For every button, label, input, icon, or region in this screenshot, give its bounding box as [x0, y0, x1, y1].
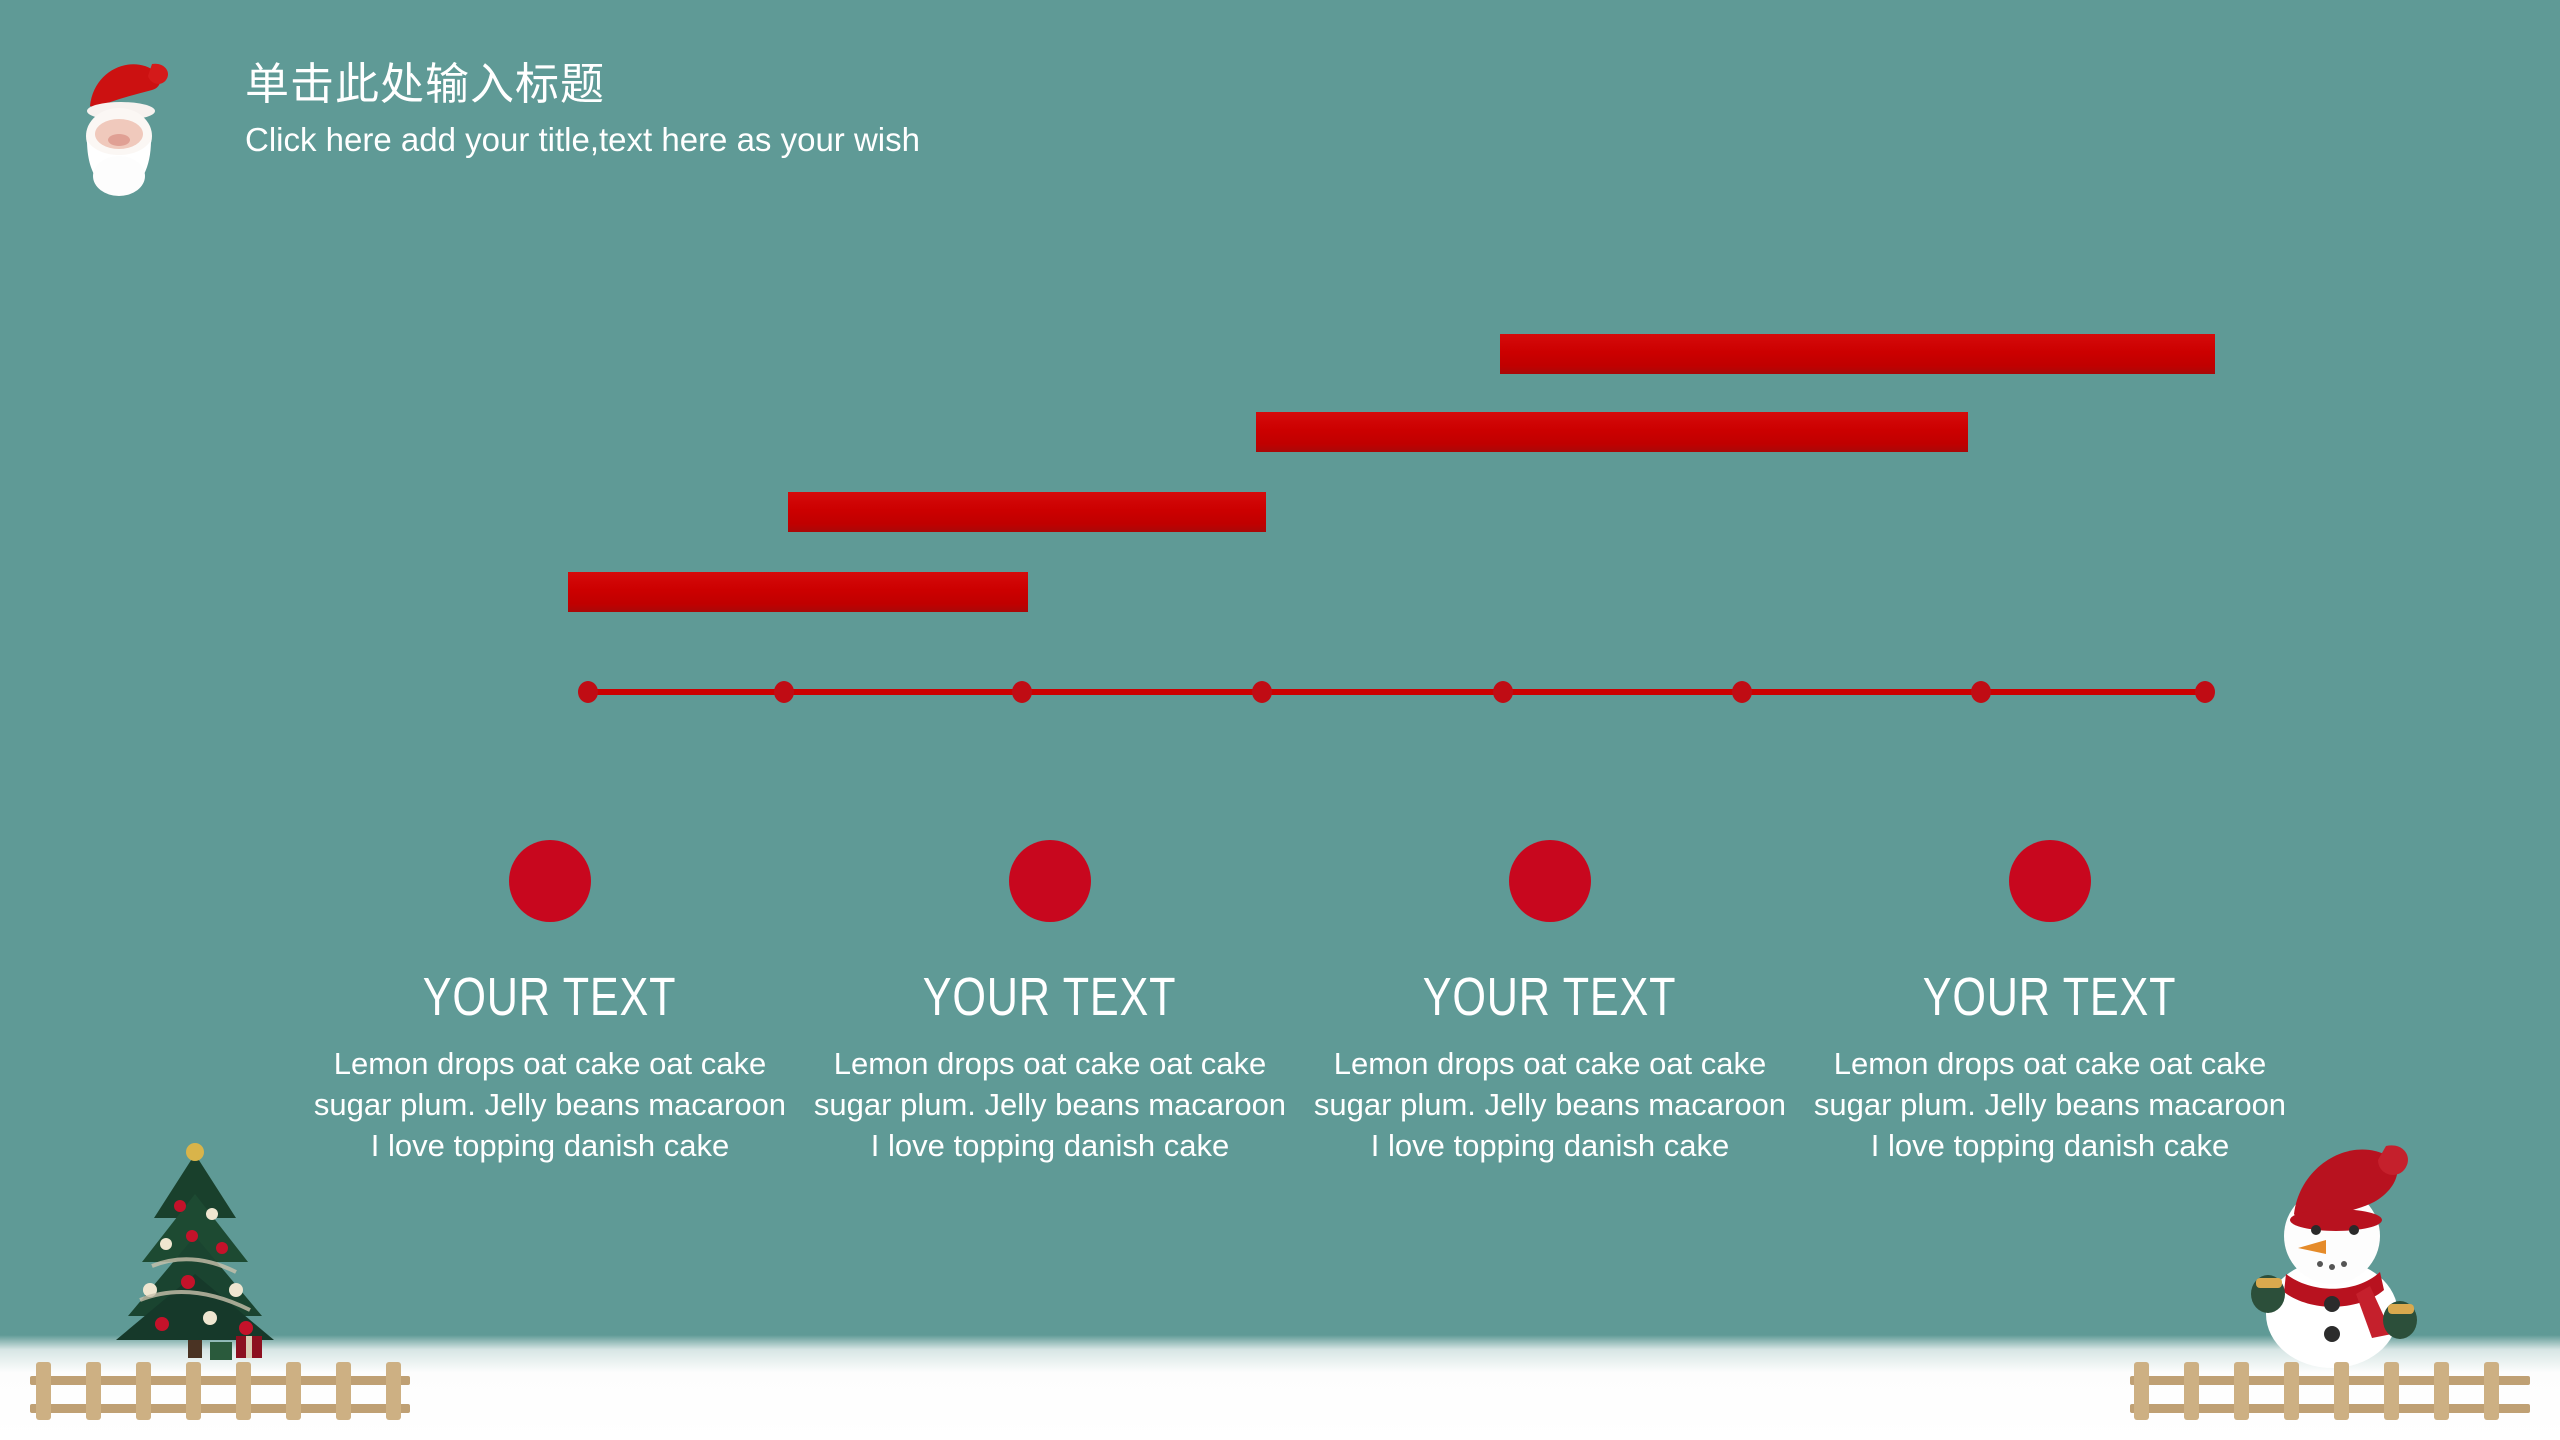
- column-title: YOUR TEXT: [923, 966, 1177, 1028]
- stair-bar: [788, 492, 1266, 532]
- timeline-node: [578, 681, 598, 703]
- column-body: Lemon drops oat cake oat cake sugar plum…: [810, 1044, 1290, 1167]
- timeline-node: [1012, 681, 1032, 703]
- column-body: Lemon drops oat cake oat cake sugar plum…: [310, 1044, 790, 1167]
- timeline-node: [1252, 681, 1272, 703]
- timeline-node: [1732, 681, 1752, 703]
- timeline-node: [774, 681, 794, 703]
- christmas-tree-icon: [40, 1140, 360, 1380]
- page-title: 单击此处输入标题: [245, 60, 920, 111]
- header-text-block: 单击此处输入标题 Click here add your title,text …: [245, 60, 920, 161]
- wooden-fence-icon: [2120, 1354, 2540, 1424]
- santa-icon: [60, 48, 178, 198]
- snowman-icon: [2220, 1128, 2450, 1368]
- content-column: YOUR TEXT Lemon drops oat cake oat cake …: [800, 840, 1300, 1167]
- content-columns: YOUR TEXT Lemon drops oat cake oat cake …: [300, 840, 2300, 1167]
- timeline-node: [2195, 681, 2215, 703]
- timeline-node: [1493, 681, 1513, 703]
- slide-canvas: 单击此处输入标题 Click here add your title,text …: [0, 0, 2560, 1440]
- column-title: YOUR TEXT: [423, 966, 677, 1028]
- content-column: YOUR TEXT Lemon drops oat cake oat cake …: [1800, 840, 2300, 1167]
- wooden-fence-icon: [20, 1354, 420, 1424]
- stair-bar: [1256, 412, 1968, 452]
- content-column: YOUR TEXT Lemon drops oat cake oat cake …: [300, 840, 800, 1167]
- column-body: Lemon drops oat cake oat cake sugar plum…: [1310, 1044, 1790, 1167]
- column-dot-icon: [1009, 840, 1091, 922]
- timeline-axis: [0, 0, 2560, 1440]
- content-column: YOUR TEXT Lemon drops oat cake oat cake …: [1300, 840, 1800, 1167]
- column-title: YOUR TEXT: [1923, 966, 2177, 1028]
- stair-bar: [1500, 334, 2215, 374]
- stair-bar: [568, 572, 1028, 612]
- column-dot-icon: [2009, 840, 2091, 922]
- timeline-node: [1971, 681, 1991, 703]
- page-subtitle: Click here add your title,text here as y…: [245, 119, 920, 162]
- column-dot-icon: [1509, 840, 1591, 922]
- column-dot-icon: [509, 840, 591, 922]
- column-body: Lemon drops oat cake oat cake sugar plum…: [1810, 1044, 2290, 1167]
- column-title: YOUR TEXT: [1423, 966, 1677, 1028]
- slide-header: 单击此处输入标题 Click here add your title,text …: [60, 48, 1460, 198]
